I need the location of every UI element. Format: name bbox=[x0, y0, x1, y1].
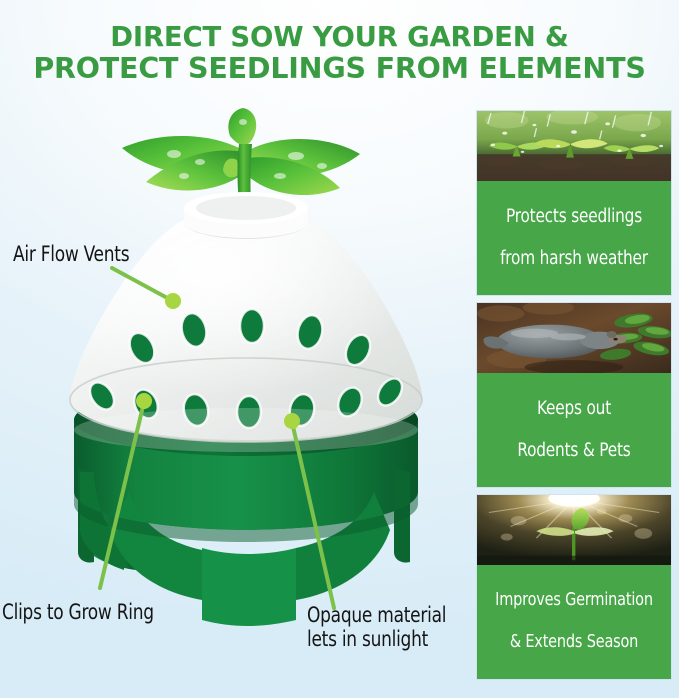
benefit-panel-keeps-out-rodents: Keeps out Rodents & Pets bbox=[476, 302, 672, 488]
photo-sunburst-behind-young-seedling bbox=[477, 495, 671, 565]
caption-protects-seedlings: Protects seedlings from harsh weather bbox=[477, 181, 671, 295]
headline-line-2: PROTECT SEEDLINGS FROM ELEMENTS bbox=[0, 53, 679, 84]
benefit-panel-protects-seedlings: Protects seedlings from harsh weather bbox=[476, 110, 672, 296]
product-illustration bbox=[34, 100, 454, 630]
caption-line-2: & Extends Season bbox=[487, 632, 662, 653]
photo-squirrel-digging-in-garden-soil bbox=[477, 303, 671, 373]
headline-line-1: DIRECT SOW YOUR GARDEN & bbox=[110, 21, 568, 53]
caption-line-1: Keeps out bbox=[487, 398, 662, 419]
page-title: DIRECT SOW YOUR GARDEN & PROTECT SEEDLIN… bbox=[0, 22, 679, 84]
caption-line-1: Protects seedlings bbox=[487, 206, 662, 227]
caption-line-2: from harsh weather bbox=[487, 248, 662, 269]
benefit-panel-improves-germination: Improves Germination & Extends Season bbox=[476, 494, 672, 680]
caption-keeps-out-rodents: Keeps out Rodents & Pets bbox=[477, 373, 671, 487]
vented-dome bbox=[70, 192, 422, 452]
benefit-panel-list: Protects seedlings from harsh weather bbox=[476, 110, 672, 680]
infographic-canvas: DIRECT SOW YOUR GARDEN & PROTECT SEEDLIN… bbox=[0, 0, 679, 698]
caption-line-1: Improves Germination bbox=[487, 590, 662, 611]
callout-clips-to-grow-ring: Clips to Grow Ring bbox=[2, 601, 154, 625]
callout-air-flow-vents: Air Flow Vents bbox=[13, 243, 129, 267]
caption-improves-germination: Improves Germination & Extends Season bbox=[477, 565, 671, 679]
callout-opaque-material: Opaque material lets in sunlight bbox=[307, 604, 446, 651]
caption-line-2: Rodents & Pets bbox=[487, 440, 662, 461]
photo-rain-falling-on-seedlings bbox=[477, 111, 671, 181]
